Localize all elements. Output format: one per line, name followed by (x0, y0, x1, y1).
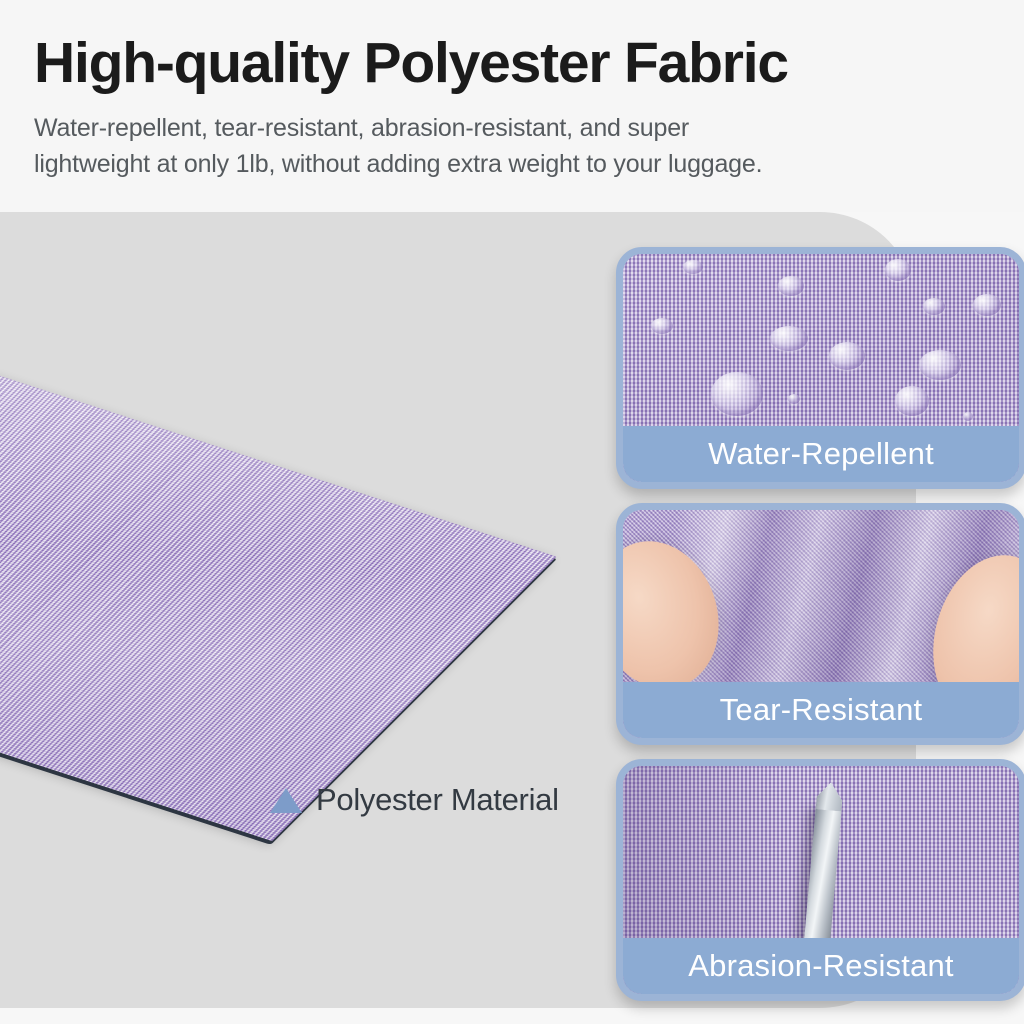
swatch-sheen-overlay (0, 359, 557, 841)
triangle-up-icon (270, 788, 302, 813)
water-droplet (683, 260, 703, 274)
header-section: High-quality Polyester Fabric Water-repe… (0, 0, 1024, 212)
water-droplet (788, 394, 800, 404)
water-repellent-photo: Water-Repellent (623, 254, 1019, 482)
abrasion-resistant-photo: Abrasion-Resistant (623, 766, 1019, 994)
water-droplet (770, 326, 808, 351)
tear-resistant-photo: Tear-Resistant (623, 510, 1019, 738)
water-droplet (651, 318, 673, 334)
material-label: Polyester Material (270, 782, 559, 818)
water-droplet (711, 372, 763, 416)
feature-caption: Tear-Resistant (623, 682, 1019, 738)
feature-card-tear-resistant[interactable]: Tear-Resistant (616, 503, 1024, 745)
water-droplet (919, 350, 961, 380)
water-droplet (895, 386, 929, 416)
feature-caption: Abrasion-Resistant (623, 938, 1019, 994)
feature-card-water-repellent[interactable]: Water-Repellent (616, 247, 1024, 489)
polyester-fabric-swatch (0, 359, 557, 841)
water-droplet (973, 294, 1001, 316)
subtitle-line-1: Water-repellent, tear-resistant, abrasio… (34, 110, 984, 146)
page-title: High-quality Polyester Fabric (34, 32, 788, 94)
material-label-text: Polyester Material (316, 782, 559, 818)
water-droplet (829, 342, 865, 370)
polyester-swatch-container (0, 280, 620, 920)
infographic-page: High-quality Polyester Fabric Water-repe… (0, 0, 1024, 1024)
water-droplet (923, 298, 945, 315)
feature-caption: Water-Repellent (623, 426, 1019, 482)
water-droplet (963, 412, 973, 421)
subtitle-line-2: lightweight at only 1lb, without adding … (34, 146, 984, 182)
feature-card-abrasion-resistant[interactable]: Abrasion-Resistant (616, 759, 1024, 1001)
water-droplet (778, 276, 804, 296)
water-droplet (885, 259, 911, 281)
page-subtitle: Water-repellent, tear-resistant, abrasio… (34, 110, 984, 182)
